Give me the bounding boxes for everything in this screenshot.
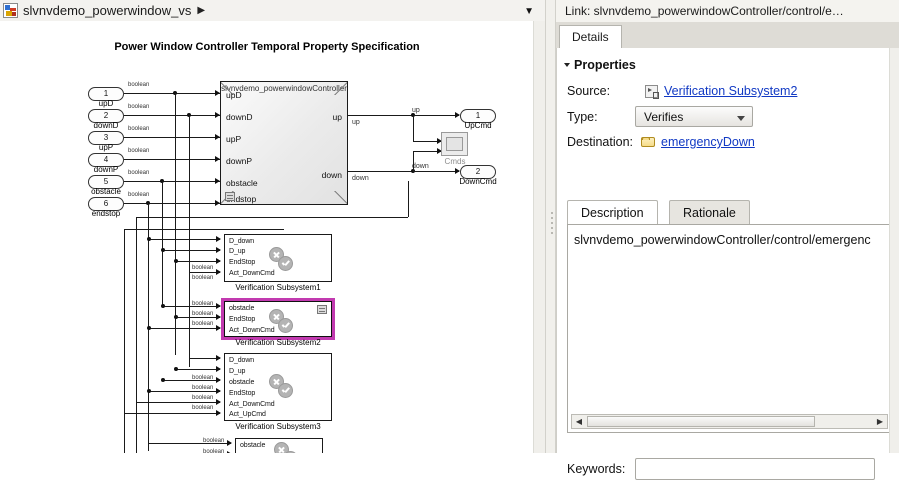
tab-details[interactable]: Details [559, 25, 622, 48]
destination-row: Destination: emergencyDown [567, 135, 755, 149]
inport-caption-2: downD [85, 121, 127, 130]
verification-subsystem-3-label: Verification Subsystem3 [204, 422, 352, 431]
signal-type-label: boolean [192, 385, 213, 391]
assertion-pass-icon [278, 383, 293, 398]
requirement-badge-icon[interactable] [225, 192, 235, 201]
scope-screen [446, 137, 463, 151]
verification-subsystem-2-label: Verification Subsystem2 [204, 338, 352, 347]
tab-rationale[interactable]: Rationale [669, 200, 750, 224]
link-title-text: Link: slvnvdemo_powerwindowController/co… [565, 4, 844, 18]
verification-subsystem-1-block[interactable]: D_down D_up EndStop Act_DownCmd [224, 234, 332, 282]
signal-type-label: boolean [192, 375, 213, 381]
controller-input-downD: downD [226, 112, 252, 122]
vs3-input-obstacle: obstacle [229, 379, 254, 386]
signal-type-label: boolean [128, 104, 149, 110]
signal-type-label: boolean [192, 301, 213, 307]
controller-input-upD: upD [226, 90, 242, 100]
signal-type-label: boolean [128, 82, 149, 88]
vs1-input-D_down: D_down [229, 238, 254, 245]
simulink-model-icon [3, 3, 18, 18]
scroll-right-arrow-icon[interactable]: ▶ [873, 415, 887, 428]
signal-type-label: boolean [203, 438, 224, 444]
verification-subsystem-2-block[interactable]: obstacle EndStop Act_DownCmd [224, 301, 332, 337]
signal-type-label: boolean [128, 170, 149, 176]
splitter-grip[interactable] [551, 212, 553, 237]
signal-type-label: boolean [203, 449, 224, 453]
scroll-left-arrow-icon[interactable]: ◀ [572, 415, 586, 428]
description-textarea[interactable]: slvnvdemo_powerwindowController/control/… [567, 224, 890, 433]
type-selected-value: Verifies [644, 110, 683, 124]
assertion-pass-icon [278, 256, 293, 271]
link-title-bar: Link: slvnvdemo_powerwindowController/co… [556, 0, 899, 23]
signal-type-label: boolean [192, 321, 213, 327]
controller-input-upP: upP [226, 134, 241, 144]
signal-name-down-2: down [352, 175, 369, 182]
global-assumptions-block[interactable]: obstacle EndStop [235, 438, 323, 453]
type-label: Type: [567, 110, 635, 124]
vs3-input-D_up: D_up [229, 368, 245, 375]
controller-input-obstacle: obstacle [226, 178, 258, 188]
details-tabbar[interactable]: Details [556, 22, 899, 49]
details-pane: Link: slvnvdemo_powerwindowController/co… [556, 0, 899, 453]
type-row: Type: Verifies [567, 106, 753, 127]
description-text[interactable]: slvnvdemo_powerwindowController/control/… [574, 233, 899, 247]
diagram-title: Power Window Controller Temporal Propert… [0, 41, 534, 53]
inport-caption-4: downP [85, 165, 127, 174]
outport-caption-DownCmd: DownCmd [452, 177, 504, 186]
vs2-input-Act_DownCmd: Act_DownCmd [229, 327, 275, 334]
folder-icon [641, 137, 655, 147]
details-body: Properties Source: Verification Subsyste… [556, 48, 899, 453]
keywords-row: Keywords: [567, 458, 875, 480]
signal-type-label: boolean [192, 395, 213, 401]
application-window: slvnvdemo_powerwindow_vs ▶ ▼ Power Windo… [0, 0, 899, 453]
vs2-input-obstacle: obstacle [229, 305, 254, 312]
signal-type-label: boolean [128, 148, 149, 154]
breadcrumb-chevron-down-icon[interactable]: ▼ [524, 6, 534, 17]
properties-section-header[interactable]: Properties [565, 58, 636, 72]
inport-caption-6: endstop [80, 209, 132, 218]
canvas-vertical-scrollbar[interactable] [533, 21, 545, 453]
description-horizontal-scrollbar[interactable]: ◀ ▶ [571, 414, 888, 429]
verification-subsystem-3-block[interactable]: D_down D_up obstacle EndStop Act_DownCmd… [224, 353, 332, 421]
tab-description[interactable]: Description [567, 200, 658, 224]
inport-caption-1: upD [88, 99, 124, 108]
signal-type-label: boolean [192, 311, 213, 317]
chevron-down-icon[interactable] [737, 116, 745, 121]
source-row: Source: Verification Subsystem2 [567, 84, 797, 98]
source-label: Source: [567, 84, 645, 98]
inport-caption-3: upP [88, 143, 124, 152]
outport-caption-UpCmd: UpCmd [452, 121, 504, 130]
breadcrumb-chevron-right-icon[interactable]: ▶ [197, 5, 205, 16]
keywords-label: Keywords: [567, 462, 625, 476]
signal-type-label: boolean [128, 192, 149, 198]
vs3-input-Act_DownCmd: Act_DownCmd [229, 401, 275, 408]
type-dropdown[interactable]: Verifies [635, 106, 753, 127]
vs1-input-EndStop: EndStop [229, 259, 255, 266]
signal-type-label: boolean [192, 275, 213, 281]
scope-caption: Cmds [435, 157, 475, 166]
signal-type-label: boolean [192, 405, 213, 411]
assertion-pass-icon [278, 318, 293, 333]
details-vertical-scrollbar[interactable] [889, 48, 899, 453]
signal-name-up-2: up [352, 119, 360, 126]
controller-input-downP: downP [226, 156, 252, 166]
chevron-down-icon[interactable] [564, 63, 570, 67]
scope-block[interactable] [441, 132, 468, 156]
requirement-badge-icon[interactable] [317, 305, 327, 314]
vs2-input-EndStop: EndStop [229, 316, 255, 323]
verification-subsystem-1-label: Verification Subsystem1 [204, 283, 352, 292]
source-link[interactable]: Verification Subsystem2 [664, 84, 797, 98]
signal-type-label: boolean [128, 126, 149, 132]
signal-type-label: boolean [192, 265, 213, 271]
inport-caption-5: obstacle [80, 187, 132, 196]
model-canvas[interactable]: Power Window Controller Temporal Propert… [0, 21, 534, 453]
controller-output-down: down [322, 170, 342, 180]
vs1-input-Act_DownCmd: Act_DownCmd [229, 270, 275, 277]
vs1-input-D_up: D_up [229, 248, 245, 255]
ga-input-obstacle: obstacle [240, 442, 265, 449]
properties-header-label: Properties [574, 58, 636, 72]
scrollbar-thumb[interactable] [587, 416, 815, 427]
pane-splitter[interactable] [545, 0, 556, 453]
vs3-input-Act_UpCmd: Act_UpCmd [229, 411, 266, 418]
breadcrumb-model-name[interactable]: slvnvdemo_powerwindow_vs [23, 3, 191, 18]
breadcrumb-bar[interactable]: slvnvdemo_powerwindow_vs ▶ ▼ [0, 0, 545, 22]
simulink-editor-pane: slvnvdemo_powerwindow_vs ▶ ▼ Power Windo… [0, 0, 545, 453]
vs3-input-D_down: D_down [229, 357, 254, 364]
keywords-input[interactable] [635, 458, 875, 480]
subsystem-icon [645, 85, 658, 98]
destination-link[interactable]: emergencyDown [661, 135, 755, 149]
destination-label: Destination: [567, 135, 633, 149]
controller-output-up: up [333, 112, 342, 122]
controller-subsystem-block[interactable]: slvnvdemo_powerwindowController upD down… [220, 81, 348, 205]
vs3-input-EndStop: EndStop [229, 390, 255, 397]
